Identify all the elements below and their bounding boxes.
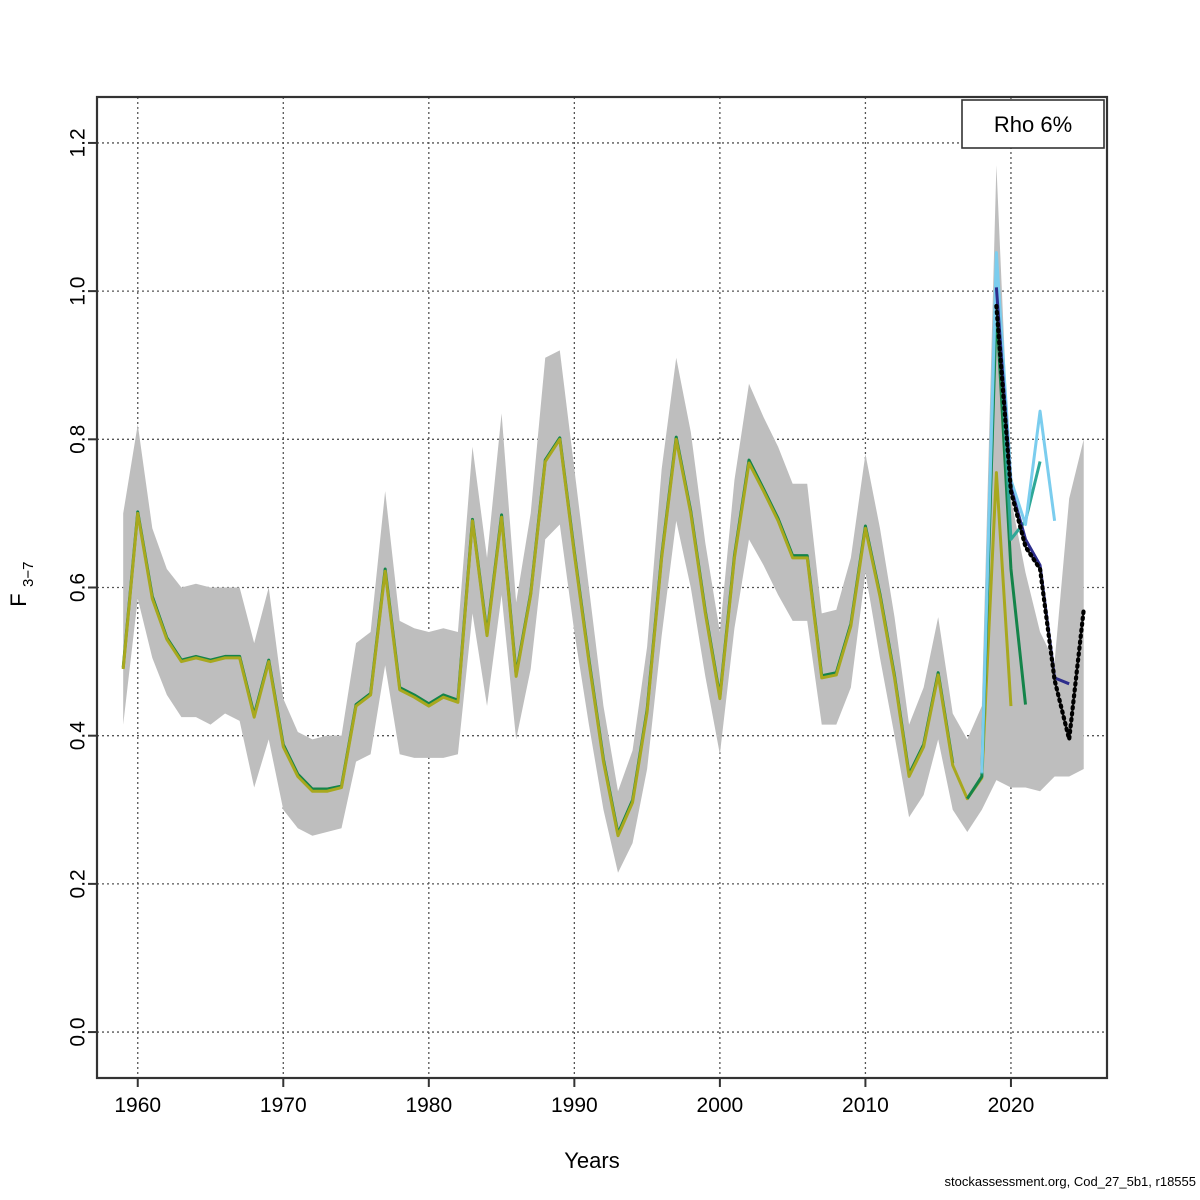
chart-page: 0.00.20.40.60.81.01.21960197019801990200… bbox=[0, 0, 1200, 1200]
y-tick-label-0.0: 0.0 bbox=[67, 1017, 90, 1046]
y-tick-label-1.0: 1.0 bbox=[67, 277, 90, 306]
x-tick-label-1980: 1980 bbox=[405, 1094, 452, 1117]
y-tick-label-0.8: 0.8 bbox=[67, 425, 90, 454]
retrospective-f-plot: 0.00.20.40.60.81.01.21960197019801990200… bbox=[0, 0, 1200, 1200]
y-tick-label-0.6: 0.6 bbox=[67, 573, 90, 602]
rho-annotation: Rho 6% bbox=[994, 112, 1072, 137]
footer-credit: stockassessment.org, Cod_27_5b1, r18555 bbox=[945, 1174, 1197, 1189]
y-tick-label-0.4: 0.4 bbox=[67, 721, 90, 751]
legend-box: Rho 6% bbox=[962, 100, 1104, 148]
x-tick-label-1960: 1960 bbox=[114, 1094, 161, 1117]
x-tick-label-1990: 1990 bbox=[551, 1094, 598, 1117]
y-tick-label-1.2: 1.2 bbox=[67, 128, 90, 157]
x-tick-label-2000: 2000 bbox=[697, 1094, 744, 1117]
x-axis-title: Years bbox=[564, 1148, 619, 1173]
x-tick-label-1970: 1970 bbox=[260, 1094, 307, 1117]
x-tick-label-2020: 2020 bbox=[988, 1094, 1035, 1117]
y-tick-label-0.2: 0.2 bbox=[67, 869, 90, 898]
y-axis-title-subscript: 3−7 bbox=[20, 562, 37, 587]
x-tick-label-2010: 2010 bbox=[842, 1094, 889, 1117]
y-axis-title-main: F bbox=[6, 593, 31, 606]
